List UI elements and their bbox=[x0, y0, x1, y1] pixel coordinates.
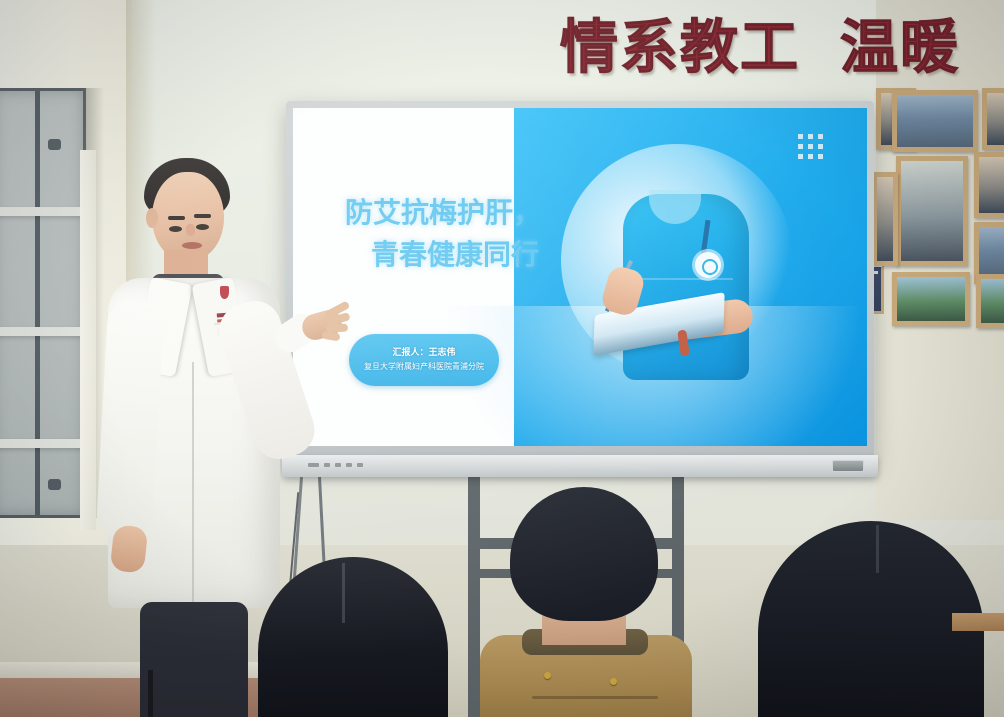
photo-frame bbox=[896, 156, 968, 266]
coat-seam bbox=[192, 362, 194, 602]
attendee-center-head bbox=[510, 487, 658, 621]
staff-badge bbox=[695, 252, 721, 278]
lecture-room-photo: 情系教工 温暖 bbox=[0, 0, 1004, 717]
ir-sensor-module bbox=[832, 460, 864, 472]
slide-presenter-name: 汇报人：王志伟 bbox=[392, 348, 455, 359]
interactive-smartboard[interactable]: 防艾抗梅护肝， 青春健康同行 汇报人：王志伟 复旦大学附属妇产科医院青浦分院 bbox=[286, 101, 874, 461]
slide-presenter-affiliation: 复旦大学附属妇产科医院青浦分院 bbox=[364, 362, 484, 372]
volume-down-button-icon[interactable] bbox=[346, 463, 352, 467]
photo-frame bbox=[872, 172, 898, 266]
cabinet-shelf bbox=[0, 327, 83, 336]
slide-title: 防艾抗梅护肝， 青春健康同行 bbox=[345, 192, 595, 276]
wall-edge-highlight bbox=[80, 150, 96, 530]
hospital-emblem-icon bbox=[220, 286, 229, 299]
nose bbox=[186, 224, 195, 236]
banner-text-secondary: 温暖 bbox=[840, 18, 960, 76]
eyebrow bbox=[194, 214, 211, 218]
pointing-hand bbox=[296, 302, 348, 344]
hair-part bbox=[342, 563, 345, 623]
smartboard-control-bar[interactable] bbox=[282, 455, 878, 477]
attendee-left-hair bbox=[258, 557, 448, 717]
cabinet-shelf bbox=[0, 207, 83, 216]
cabinet-handle[interactable] bbox=[48, 139, 61, 150]
list-item bbox=[258, 557, 448, 717]
table-edge bbox=[952, 613, 1004, 631]
hair-part bbox=[876, 525, 879, 573]
framed-photo-gallery bbox=[886, 88, 1004, 448]
list-item bbox=[758, 521, 984, 717]
dot-grid-icon bbox=[798, 134, 823, 159]
source-button-icon[interactable] bbox=[335, 463, 341, 467]
photo-frame bbox=[982, 88, 1004, 150]
cabinet-handle[interactable] bbox=[48, 479, 61, 490]
banner-text-primary: 情系教工 bbox=[560, 18, 800, 76]
smartboard-display[interactable]: 防艾抗梅护肝， 青春健康同行 汇报人：王志伟 复旦大学附属妇产科医院青浦分院 bbox=[293, 108, 867, 446]
photo-frame bbox=[976, 274, 1004, 328]
photo-frame bbox=[892, 272, 970, 326]
slide-title-line-1: 防艾抗梅护肝， bbox=[345, 192, 595, 234]
jacket-stud bbox=[610, 678, 617, 685]
smartboard-button-row[interactable] bbox=[308, 463, 363, 467]
slide-presenter-badge: 汇报人：王志伟 复旦大学附属妇产科医院青浦分院 bbox=[349, 334, 499, 386]
menu-button-icon[interactable] bbox=[324, 463, 330, 467]
jacket-flap bbox=[532, 696, 658, 699]
photo-frame bbox=[974, 152, 1004, 218]
cabinet-mullion bbox=[35, 91, 40, 515]
volume-up-button-icon[interactable] bbox=[357, 463, 363, 467]
wall-banner: 情系教工 温暖 bbox=[560, 8, 1004, 86]
mouth bbox=[182, 242, 202, 249]
eyebrow bbox=[168, 216, 185, 220]
eye bbox=[196, 224, 209, 230]
photo-frame bbox=[892, 90, 978, 152]
slide-medical-staff-image bbox=[587, 160, 783, 390]
attendee-right-hair bbox=[758, 521, 984, 717]
trousers bbox=[140, 602, 248, 717]
power-button-icon[interactable] bbox=[308, 463, 319, 467]
jacket-stud bbox=[544, 672, 551, 679]
list-item bbox=[470, 487, 700, 717]
presentation-slide: 防艾抗梅护肝， 青春健康同行 汇报人：王志伟 复旦大学附属妇产科医院青浦分院 bbox=[293, 108, 867, 446]
ear bbox=[146, 208, 158, 228]
slide-title-line-2: 青春健康同行 bbox=[371, 234, 595, 276]
eye bbox=[169, 226, 182, 232]
glass-display-cabinet bbox=[0, 88, 86, 518]
cabinet-shelf bbox=[0, 439, 83, 448]
trouser-seam bbox=[148, 670, 153, 717]
